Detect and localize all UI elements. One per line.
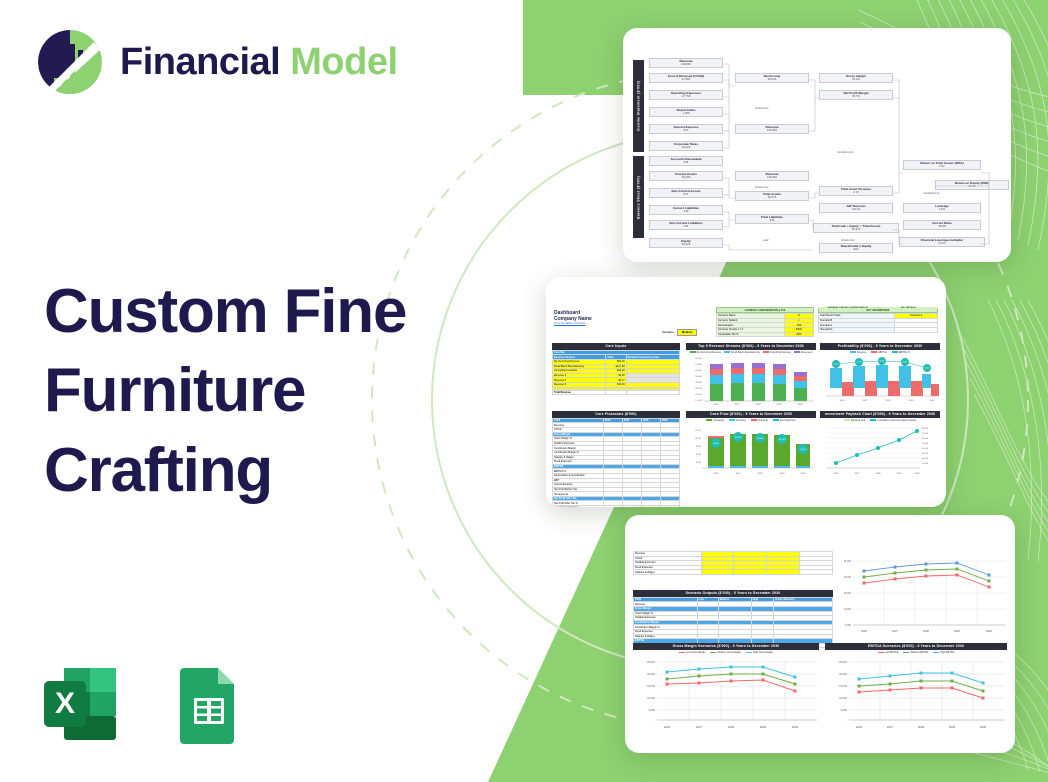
flow-node: Financial Leverage multiplier63.22	[899, 237, 985, 247]
svg-text:60,000: 60,000	[922, 438, 929, 440]
svg-text:4,000: 4,000	[696, 462, 702, 464]
financial-model-circle-chart-logo-icon	[36, 28, 104, 96]
svg-text:54.0%: 54.0%	[902, 361, 907, 363]
flow-node: Revenue136,800	[735, 171, 809, 181]
svg-text:2029: 2029	[949, 725, 956, 729]
svg-text:20,000: 20,000	[695, 394, 702, 396]
flow-node: Revenue136,800	[735, 124, 809, 134]
brand-logo: Financial Model	[36, 28, 398, 96]
svg-text:25,000: 25,000	[844, 560, 852, 563]
chart-title: EBITDA Scenarios ($'000) - 5 Years to De…	[825, 643, 1007, 650]
svg-text:2029: 2029	[777, 404, 783, 406]
svg-text:2030: 2030	[798, 404, 804, 406]
key-assumptions-table: Lead Period YearsScenario A Scenario B S…	[818, 313, 938, 332]
svg-text:54.7%: 54.7%	[856, 361, 861, 363]
flow-node: Shareholder's Equity800	[819, 243, 893, 253]
svg-text:15,000: 15,000	[844, 592, 852, 595]
svg-text:50,000: 50,000	[695, 376, 702, 378]
core-inputs-title: Core Inputs	[552, 343, 680, 350]
brand-name: Financial Model	[120, 43, 398, 81]
svg-text:2026: 2026	[664, 725, 671, 729]
scenario-outputs-screenshot[interactable]: Revenue COGS Variable Expenses Fixed Exp…	[625, 515, 1015, 753]
svg-text:2028: 2028	[923, 629, 929, 633]
svg-text:2027: 2027	[855, 473, 861, 475]
ebitda-scenarios-chart: EBITDA Scenarios ($'000) - 5 Years to De…	[825, 643, 1007, 739]
svg-text:2030: 2030	[980, 725, 987, 729]
scenario-top-table: Revenue COGS Variable Expenses Fixed Exp…	[633, 551, 833, 575]
svg-text:80,000: 80,000	[695, 358, 702, 360]
svg-text:2028: 2028	[728, 725, 735, 729]
svg-text:5,000: 5,000	[841, 708, 848, 712]
dashboard-header: Dashboard Company Name Go to the Table o…	[554, 310, 592, 325]
flow-node: Total Asset Turnover2.70	[819, 186, 893, 196]
chart-plot: 25,000 20,000 15,000 10,000 5,000 - 2026…	[633, 654, 819, 734]
flow-node: Return on Total Assets (ROA)0.97	[903, 160, 981, 170]
chart-plot: 25,000 20,000 15,000 10,000 5,000 - 2026…	[825, 654, 1007, 734]
svg-text:10,000: 10,000	[695, 438, 702, 440]
flow-node: Operating Expenses17,758	[649, 90, 723, 100]
flow-node: Revenue136,800	[649, 58, 723, 68]
microsoft-excel-icon[interactable]: X	[38, 662, 122, 746]
flow-node: Interest Expense527	[649, 124, 723, 134]
flow-operator: Add	[763, 238, 768, 242]
flow-node: Current Assets50,006	[649, 171, 723, 181]
svg-text:2028: 2028	[876, 473, 882, 475]
svg-text:10,350: 10,350	[757, 438, 764, 440]
flow-node: A/R Turnover144.24	[819, 203, 893, 213]
svg-text:20,000: 20,000	[647, 672, 655, 676]
svg-text:2027: 2027	[696, 725, 703, 729]
scenario-value[interactable]: Medium	[677, 329, 698, 336]
svg-text:30,000: 30,000	[695, 388, 702, 390]
svg-text:2026: 2026	[856, 725, 863, 729]
chart-plot: 80,00070,00060,000 50,00040,00030,000 20…	[686, 354, 816, 406]
svg-text:2027: 2027	[736, 473, 742, 475]
svg-text:2027: 2027	[887, 725, 894, 729]
svg-text:6,557: 6,557	[800, 449, 806, 451]
top-5-revenue-streams-chart: Top 5 Revenue Streams ($'000) - 5 Years …	[686, 343, 816, 411]
svg-text:8,000: 8,000	[713, 443, 719, 445]
svg-text:2028: 2028	[756, 404, 762, 406]
svg-text:2028: 2028	[886, 400, 892, 402]
promo-banner: Financial Model Custom Fine Furniture Cr…	[0, 0, 1048, 782]
flow-operator: multiplied by	[923, 191, 940, 195]
svg-text:2029: 2029	[954, 629, 960, 633]
currency-table: Currency Name$ Currency Subunitc Denomin…	[716, 313, 814, 337]
svg-text:15,000: 15,000	[647, 684, 655, 688]
svg-text:20,000: 20,000	[844, 576, 852, 579]
investment-payback-chart: Investment Payback Chart ($'000) - 5 Yea…	[820, 411, 940, 487]
svg-text:2030: 2030	[801, 473, 807, 475]
gross-margin-scenarios-chart: Gross Margin Scenarios ($'000) - 5 Years…	[633, 643, 819, 739]
chart-title: Top 5 Revenue Streams ($'000) - 5 Years …	[686, 343, 816, 350]
chart-plot: 25,00020,00015,000 10,0005,000 2026 2027…	[839, 553, 1007, 641]
chart-plot: 8,000 10,700 10,350 10,100 6,557 12,000 …	[686, 422, 816, 482]
flow-node: Net Income48,618	[735, 73, 809, 83]
flow-node: Total Assets50,576	[735, 191, 809, 201]
flow-section-income-statement: Income Statement ($'000)	[633, 60, 644, 152]
flow-operator: divided by	[755, 106, 769, 110]
svg-text:2028: 2028	[918, 725, 925, 729]
flow-node: Non-Current Assets570	[649, 188, 723, 198]
svg-text:5,000: 5,000	[845, 624, 852, 627]
svg-text:20,000: 20,000	[922, 458, 929, 460]
currency-panel: CURRENCY, DENOMINATION & TAX Currency Na…	[716, 307, 814, 337]
brand-name-part2: Model	[290, 41, 397, 83]
svg-text:8,000: 8,000	[696, 446, 702, 448]
svg-text:6,000: 6,000	[696, 454, 702, 456]
scenario-outputs-title: Scenario Outputs ($'000) - 5 Years to De…	[633, 590, 833, 597]
supported-apps: X	[38, 662, 250, 746]
page-title-line-3: Crafting	[44, 431, 444, 510]
panel-bands: WORKING CAPITAL & DEPRECIATION KEY METRI…	[818, 307, 938, 309]
core-financials-table: Core Financials ($'000) $'00020262027202…	[552, 411, 680, 507]
scenario-label: Scenario	[662, 330, 674, 334]
chart-title: Gross Margin Scenarios ($'000) - 5 Years…	[633, 643, 819, 650]
flow-node: Depreciation1,385	[649, 107, 723, 117]
svg-text:2029: 2029	[897, 473, 903, 475]
flow-node: Equity49,628	[649, 238, 723, 248]
flow-node: Current Ratio58.98	[903, 220, 981, 230]
flow-node: Non Current Liabilities109	[649, 220, 723, 230]
svg-text:60,000: 60,000	[695, 370, 702, 372]
svg-text:10,000: 10,000	[922, 463, 929, 465]
profitability-chart: Profitability ($'000) - 5 Years to Decem…	[820, 343, 940, 411]
svg-text:30,000: 30,000	[922, 453, 929, 455]
svg-text:53.5%: 53.5%	[924, 367, 929, 369]
svg-text:25,000: 25,000	[647, 660, 655, 664]
svg-text:2029: 2029	[780, 473, 786, 475]
svg-text:40,000: 40,000	[922, 448, 929, 450]
svg-text:2030: 2030	[986, 629, 992, 633]
svg-text:70,000: 70,000	[922, 433, 929, 435]
svg-text:10,100: 10,100	[779, 439, 786, 441]
svg-text:50,000: 50,000	[922, 443, 929, 445]
financial-dashboard-screenshot[interactable]: Dashboard Company Name Go to the Table o…	[546, 277, 946, 507]
svg-text:70,000: 70,000	[695, 364, 702, 366]
chart-title: Cash Flow ($'000) - 5 Years to December …	[686, 411, 816, 418]
chart-plot: 80,000 70,000 60,000 50,000 40,000 30,00…	[820, 422, 940, 482]
flow-node: Total Liab + Equity = Total Assets50,576	[813, 223, 899, 233]
svg-text:-: -	[654, 719, 655, 722]
svg-text:2026: 2026	[714, 404, 720, 406]
svg-text:10,700: 10,700	[735, 437, 742, 439]
flow-node: Net Profit Margin35.7%	[819, 90, 893, 100]
page-title: Custom Fine Furniture Crafting	[44, 272, 444, 510]
svg-text:2026: 2026	[840, 400, 846, 402]
key-assumptions-panel: KEY ASSUMPTIONS Lead Period YearsScenari…	[818, 307, 938, 333]
flow-section-balance-sheet: Balance Sheet ($'000)	[633, 156, 644, 238]
svg-text:15,000: 15,000	[839, 684, 847, 688]
flow-node: Current Liabilities449	[649, 205, 723, 215]
svg-text:12,000: 12,000	[695, 430, 702, 432]
brand-name-part1: Financial	[120, 41, 290, 83]
svg-text:X: X	[55, 687, 75, 720]
svg-text:2029: 2029	[909, 400, 915, 402]
svg-text:10,000: 10,000	[695, 400, 702, 402]
svg-text:2030: 2030	[792, 725, 799, 729]
chart-plot: 54.1% 54.7% 54.2% 54.0% 53.5% 2026 2027 …	[820, 354, 940, 406]
flow-node: Accounts Receivable948	[649, 156, 723, 166]
flow-node: Gross margin65.0%	[819, 73, 893, 83]
svg-text:5,000: 5,000	[649, 708, 656, 712]
dashboard-toc-link[interactable]: Go to the Table of Contents	[554, 322, 592, 325]
scenario-selector[interactable]: Scenario Medium	[662, 329, 697, 336]
scenario-outputs-table: Scenario Outputs ($'000) - 5 Years to De…	[633, 590, 833, 648]
svg-text:2028: 2028	[758, 473, 764, 475]
svg-text:54.2%: 54.2%	[879, 360, 884, 362]
svg-text:2027: 2027	[863, 400, 869, 402]
flow-node: Corporate Taxes20,626	[649, 141, 723, 151]
chart-title: Investment Payback Chart ($'000) - 5 Yea…	[820, 411, 940, 418]
page-title-line-2: Furniture	[44, 351, 444, 430]
svg-text:2030: 2030	[930, 400, 936, 402]
svg-text:2029: 2029	[760, 725, 767, 729]
svg-text:10,000: 10,000	[839, 696, 847, 700]
svg-text:2027: 2027	[735, 404, 741, 406]
svg-text:20,000: 20,000	[839, 672, 847, 676]
svg-text:2026: 2026	[714, 473, 720, 475]
svg-text:10,000: 10,000	[647, 696, 655, 700]
revenue-scenarios-chart: 25,00020,00015,000 10,0005,000 2026 2027…	[839, 553, 1007, 646]
google-sheets-icon[interactable]	[166, 662, 250, 746]
dupont-financial-flowchart-screenshot[interactable]: Income Statement ($'000) Balance Sheet (…	[623, 28, 1011, 262]
flow-node-roe: Return on Equity (ROE)61.03	[935, 180, 1009, 190]
svg-text:54.1%: 54.1%	[833, 363, 838, 365]
svg-text:2030: 2030	[915, 473, 921, 475]
flow-node: Total Liabilities949	[735, 214, 809, 224]
svg-text:2026: 2026	[834, 473, 840, 475]
svg-text:80,000: 80,000	[922, 428, 929, 430]
page-title-line-1: Custom Fine	[44, 272, 444, 351]
flow-operator: multiplied by	[837, 150, 854, 154]
svg-text:-: -	[846, 719, 847, 722]
svg-text:2027: 2027	[892, 629, 898, 633]
core-inputs-table: Core Inputs Core Tab Revenue Streams Uni…	[552, 343, 680, 395]
flow-node: Leverage1.9%	[903, 203, 981, 213]
core-financials-title: Core Financials ($'000)	[552, 411, 680, 418]
flow-operator: divided by	[755, 185, 769, 189]
chart-title: Profitability ($'000) - 5 Years to Decem…	[820, 343, 940, 350]
svg-text:40,000: 40,000	[695, 382, 702, 384]
flow-operator: divided by	[841, 238, 855, 242]
flow-node: Cost of Revenue (COGS)47,880	[649, 73, 723, 83]
svg-text:25,000: 25,000	[839, 660, 847, 664]
svg-text:2026: 2026	[861, 629, 867, 633]
svg-text:10,000: 10,000	[844, 608, 852, 611]
cash-flow-chart: Cash Flow ($'000) - 5 Years to December …	[686, 411, 816, 487]
